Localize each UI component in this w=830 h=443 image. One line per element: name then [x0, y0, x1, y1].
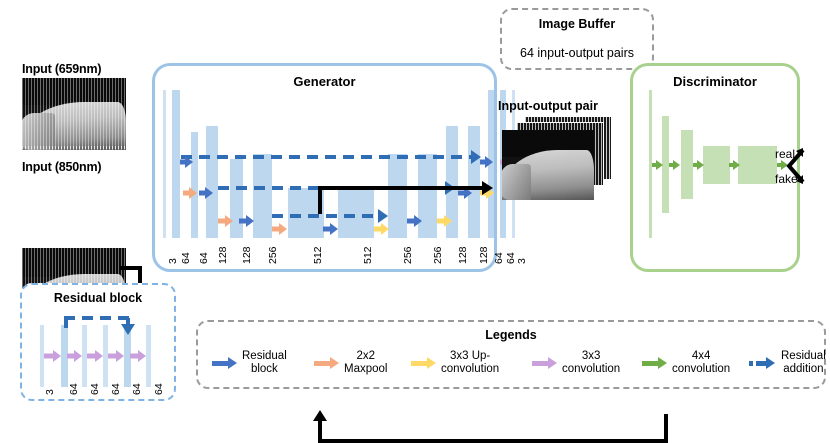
unet-bar-11	[468, 126, 480, 238]
res-label-4: 64	[131, 383, 143, 395]
disc-block-2	[681, 130, 693, 199]
legend-arrow-residual-block-icon	[212, 357, 238, 369]
skip-connection-1	[181, 155, 481, 159]
res-label-1: 64	[68, 383, 80, 395]
unet-label-11: 128	[478, 246, 490, 264]
unet-bar-5	[253, 154, 272, 238]
unet-label-2: 64	[198, 252, 210, 264]
unet-label-8: 256	[402, 246, 414, 264]
unet-label-10: 128	[457, 246, 469, 264]
unet-label-1: 64	[180, 252, 192, 264]
res-label-5: 64	[153, 383, 165, 395]
legend-label-5: Residual addition	[781, 350, 826, 375]
unet-label-5: 256	[267, 246, 279, 264]
unet-bar-7	[338, 188, 374, 238]
legend-residual-addition[interactable]: Residual addition	[749, 350, 826, 375]
input-output-pair-title: Input-output pair	[498, 99, 598, 113]
unet-label-4: 128	[241, 246, 253, 264]
legend-convolution-4x4[interactable]: 4x4 convolution	[642, 350, 730, 375]
legend-arrow-upconv-icon	[411, 357, 437, 369]
res-label-2: 64	[89, 383, 101, 395]
image-buffer-title: Image Buffer	[502, 17, 652, 31]
unet-bar-1	[172, 90, 180, 238]
res-bar-5	[146, 325, 151, 387]
res-label-3: 64	[110, 383, 122, 395]
discriminator-panel[interactable]: Discriminator	[630, 63, 800, 272]
legends-box[interactable]: Legends Residual block 2x2 Maxpool 3x3 U…	[196, 320, 826, 389]
legend-residual-block[interactable]: Residual block	[212, 350, 287, 375]
input-image-659	[22, 78, 126, 150]
skip-connection-3	[272, 214, 388, 218]
unet-label-9: 256	[432, 246, 444, 264]
generator-panel[interactable]: Generator 3 64 64 128 128 256 512 512 25…	[152, 63, 497, 272]
legends-title: Legends	[198, 328, 824, 342]
unet-bar-3	[206, 126, 218, 238]
input-850-label: Input (850nm)	[22, 160, 101, 174]
res-label-0: 3	[44, 389, 56, 395]
unet-label-0: 3	[167, 258, 179, 264]
legend-maxpool[interactable]: 2x2 Maxpool	[314, 350, 387, 375]
legend-up-convolution[interactable]: 3x3 Up- convolution	[411, 350, 499, 375]
unet-bar-2	[191, 132, 198, 238]
output-label-real: real	[775, 147, 795, 161]
unet-label-3: 128	[217, 246, 229, 264]
disc-block-4	[738, 146, 777, 184]
image-buffer-box[interactable]: Image Buffer 64 input-output pairs	[500, 8, 654, 70]
output-label-fake: fake	[775, 172, 798, 186]
legend-arrow-residual-addition-icon	[749, 357, 777, 369]
legend-arrow-conv3x3-icon	[532, 357, 558, 369]
legend-convolution-3x3[interactable]: 3x3 convolution	[532, 350, 620, 375]
input-output-pair-stack	[498, 116, 614, 206]
legend-arrow-maxpool-icon	[314, 357, 340, 369]
unet-label-7: 512	[362, 246, 374, 264]
legend-label-0: Residual block	[242, 350, 287, 375]
disc-block-3	[703, 146, 730, 184]
residual-block-box[interactable]: Residual block 3 64 64 64 64 64	[20, 283, 176, 401]
legend-label-3: 3x3 convolution	[562, 350, 620, 375]
unet-label-6: 512	[312, 246, 324, 264]
residual-block-title: Residual block	[22, 291, 174, 305]
unet-bar-8	[388, 154, 407, 238]
generator-title: Generator	[155, 74, 494, 89]
unet-label-14: 3	[516, 258, 528, 264]
legend-arrow-conv4x4-icon	[642, 357, 668, 369]
input-659-label: Input (659nm)	[22, 62, 101, 76]
legend-label-4: 4x4 convolution	[672, 350, 730, 375]
unet-bar-0	[163, 90, 166, 238]
legend-label-1: 2x2 Maxpool	[344, 350, 387, 375]
legend-label-2: 3x3 Up- convolution	[441, 350, 499, 375]
discriminator-title: Discriminator	[633, 74, 797, 89]
image-buffer-subtitle: 64 input-output pairs	[502, 46, 652, 60]
disc-block-1	[662, 116, 669, 213]
unet-label-12: 64	[493, 252, 505, 264]
